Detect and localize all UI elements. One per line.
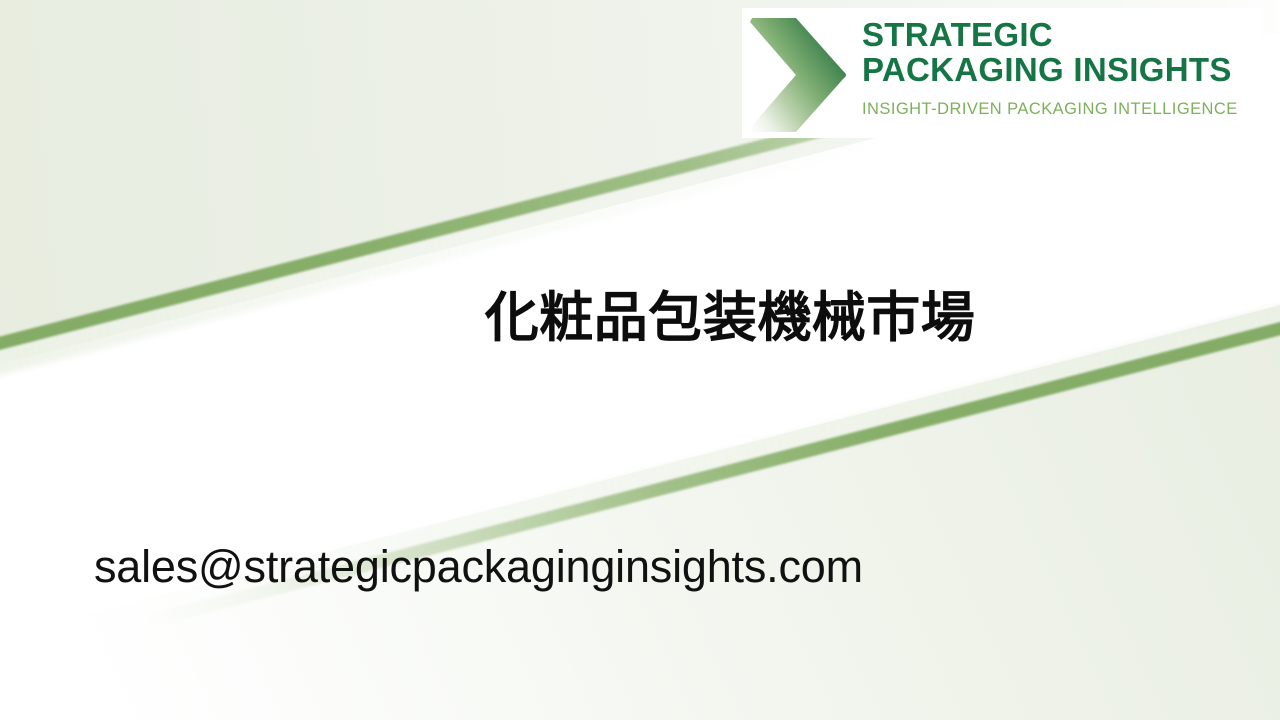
slide-title: 化粧品包装機械市場 [0,288,1280,347]
slide-canvas: STRATEGIC PACKAGING INSIGHTS INSIGHT-DRI… [0,0,1280,720]
logo-text-block: STRATEGIC PACKAGING INSIGHTS INSIGHT-DRI… [862,8,1238,119]
logo-tagline: INSIGHT-DRIVEN PACKAGING INTELLIGENCE [862,100,1238,119]
logo-wordmark-line-2: PACKAGING INSIGHTS [862,53,1238,88]
chevron-right-icon [742,12,848,138]
contact-email[interactable]: sales@strategicpackaginginsights.com [94,541,863,593]
logo-wordmark-line-1: STRATEGIC [862,18,1238,53]
company-logo: STRATEGIC PACKAGING INSIGHTS INSIGHT-DRI… [742,8,1262,138]
